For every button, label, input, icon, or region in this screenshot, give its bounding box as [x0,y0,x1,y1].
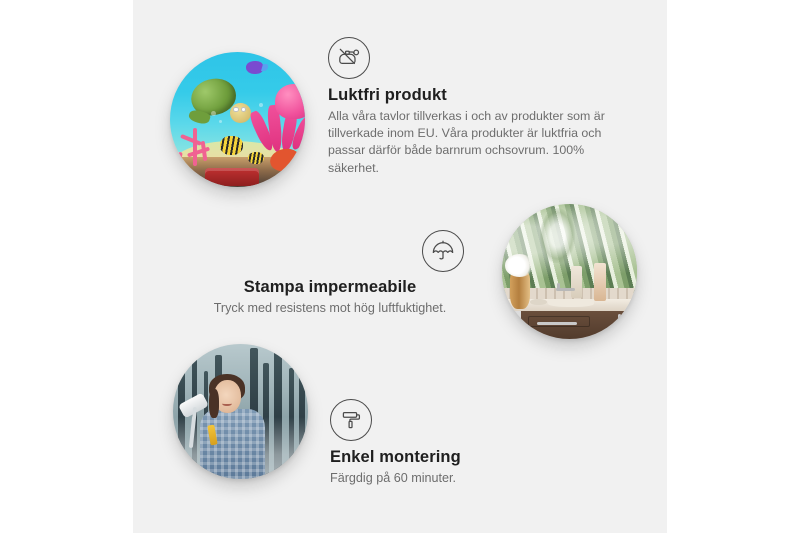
forest-photo [173,344,308,479]
feature-waterproof-print: Stampa impermeabile Tryck med resistens … [196,230,464,317]
product-image-bathroom[interactable] [502,204,637,339]
octopus-icon [254,84,305,152]
feature-odour-free: Luktfri produkt Alla våra tavlor tillver… [328,37,628,177]
bathroom-photo [502,204,637,339]
turtle-icon [188,79,250,124]
soap-dish [530,299,546,306]
bottle-icon [571,266,582,298]
sink [548,299,594,307]
fish-icon [220,136,243,155]
vase-icon [510,272,530,310]
umbrella-icon [422,230,464,272]
bottle-icon [594,263,606,301]
icon-wrap [196,230,464,272]
feature-description: Tryck med resistens mot hög luftfuktighe… [196,300,464,317]
icon-wrap [330,399,570,441]
product-image-underwater[interactable] [170,52,305,187]
coral-icon [175,128,218,171]
icon-wrap [328,37,628,79]
feature-title: Luktfri produkt [328,86,628,105]
hair-strand [209,389,218,419]
vanity-cabinet [521,311,637,339]
underwater-illustration [170,52,305,187]
feature-description: Alla våra tavlor tillverkas i och av pro… [328,108,622,177]
promo-graphic: Luktfri produkt Alla våra tavlor tillver… [0,0,800,533]
feature-title: Stampa impermeabile [196,278,464,297]
feature-description: Färgdig på 60 minuter. [330,470,570,487]
treasure-chest-icon [205,168,259,186]
no-fragrance-icon [328,37,370,79]
fish-icon [246,61,264,73]
product-image-forest[interactable] [173,344,308,479]
paint-roller-icon [330,399,372,441]
smile [222,401,233,406]
flowers-icon [505,254,535,277]
faucet-icon [556,288,575,291]
feature-easy-mounting: Enkel montering Färgdig på 60 minuter. [330,399,570,487]
feature-title: Enkel montering [330,448,570,467]
